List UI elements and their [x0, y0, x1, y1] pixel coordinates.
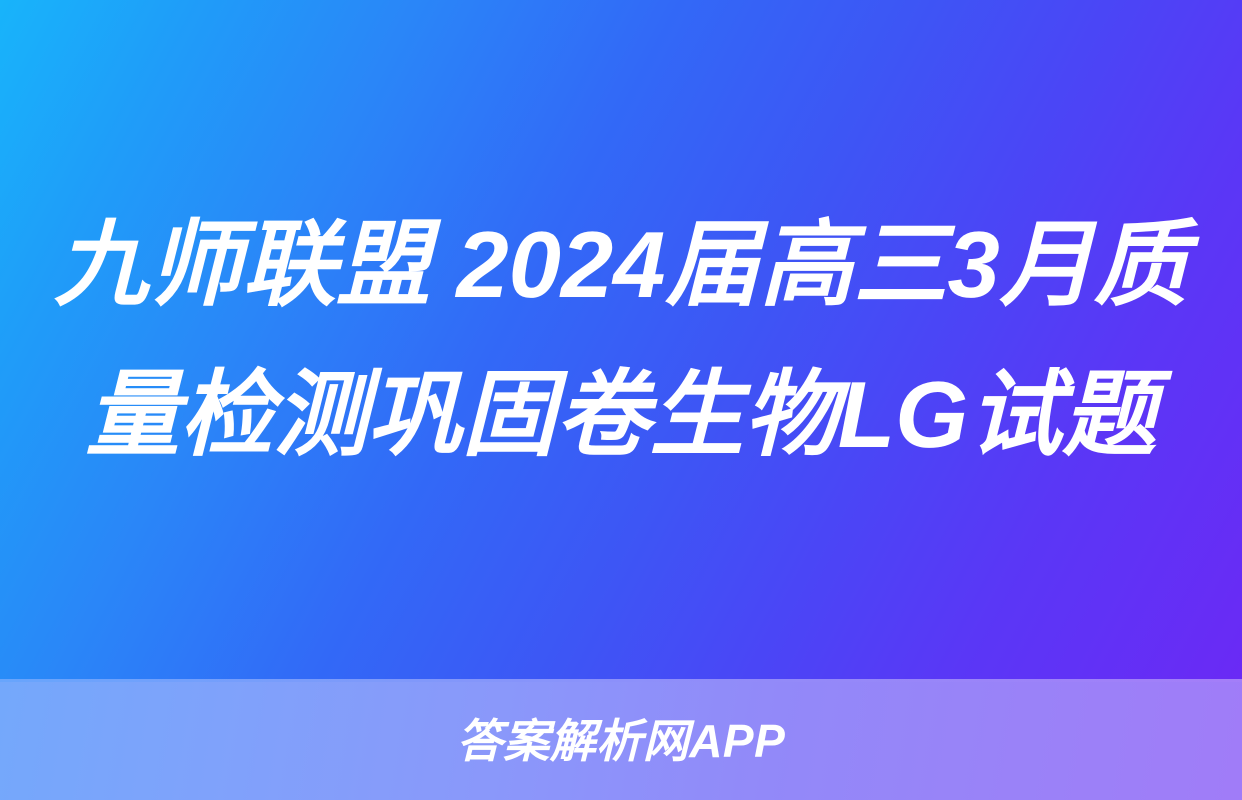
app-watermark-label: 答案解析网APP [457, 718, 786, 764]
exam-cover-banner: 九师联盟 2024届高三3月质量检测巩固卷生物LG试题 答案解析网APP [0, 0, 1242, 800]
watermark-footer-band: 答案解析网APP [0, 679, 1242, 800]
page-title: 九师联盟 2024届高三3月质量检测巩固卷生物LG试题 [34, 190, 1208, 490]
hero-gradient-panel: 九师联盟 2024届高三3月质量检测巩固卷生物LG试题 [0, 0, 1242, 679]
